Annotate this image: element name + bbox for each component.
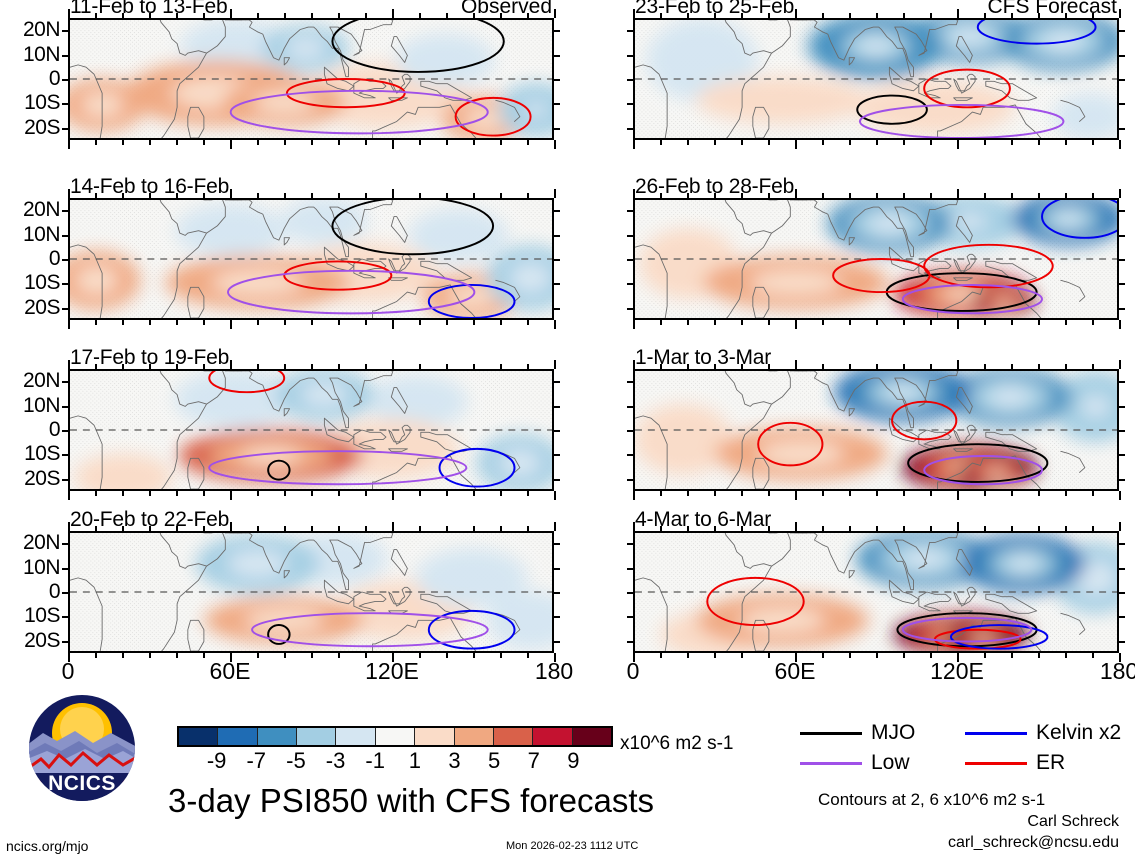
x-tick xyxy=(984,320,986,325)
x-tick xyxy=(822,526,824,531)
x-tick xyxy=(714,491,716,496)
legend-label-mjo: MJO xyxy=(871,721,915,745)
x-tick xyxy=(122,320,124,325)
x-tick xyxy=(122,193,124,198)
y-tick xyxy=(554,210,560,212)
x-tick xyxy=(876,653,878,658)
x-tick xyxy=(1011,193,1013,198)
x-tick xyxy=(1011,526,1013,531)
x-tick xyxy=(419,320,421,325)
x-tick xyxy=(903,491,905,496)
x-tick xyxy=(176,491,178,496)
x-tick xyxy=(203,193,205,198)
x-tick xyxy=(311,526,313,531)
x-tick xyxy=(311,491,313,496)
x-tick xyxy=(903,13,905,18)
x-tick xyxy=(1011,140,1013,145)
y-tick xyxy=(627,568,633,570)
x-tick xyxy=(95,491,97,496)
x-tick xyxy=(284,193,286,198)
y-axis-label: 10S xyxy=(0,271,60,295)
x-tick xyxy=(68,360,70,369)
x-tick xyxy=(1065,364,1067,369)
er-line-icon xyxy=(965,762,1027,765)
legend-label-low: Low xyxy=(871,751,910,775)
contour-note: Contours at 2, 6 x10^6 m2 s-1 xyxy=(818,790,1045,810)
x-tick xyxy=(849,653,851,658)
mjo-line-icon xyxy=(800,732,862,735)
x-tick xyxy=(849,364,851,369)
x-tick xyxy=(768,13,770,18)
legend-item-er: ER xyxy=(965,751,1130,775)
x-tick xyxy=(714,193,716,198)
y-tick xyxy=(554,543,560,545)
y-tick xyxy=(62,308,68,310)
y-axis-label: 0 xyxy=(0,67,60,91)
x-tick xyxy=(984,526,986,531)
colorbar-unit-label: x10^6 m2 s-1 xyxy=(620,733,733,755)
y-axis-label: 10S xyxy=(0,604,60,628)
x-tick xyxy=(446,491,448,496)
map-panel-1: 11-Feb to 13-FebObserved xyxy=(68,18,554,140)
x-tick xyxy=(1065,193,1067,198)
y-tick xyxy=(554,235,560,237)
x-tick xyxy=(1092,193,1094,198)
x-tick xyxy=(365,13,367,18)
legend-label-er: ER xyxy=(1036,751,1065,775)
x-tick xyxy=(500,526,502,531)
y-tick xyxy=(554,103,560,105)
y-tick xyxy=(62,543,68,545)
x-tick xyxy=(903,140,905,145)
x-tick xyxy=(122,491,124,496)
x-tick xyxy=(1119,360,1121,369)
x-tick xyxy=(984,140,986,145)
y-tick xyxy=(1119,430,1125,432)
x-tick xyxy=(122,13,124,18)
x-tick xyxy=(284,491,286,496)
y-axis-label: 20N xyxy=(0,531,60,555)
figure-root: 11-Feb to 13-FebObserved 14-Feb to 16-Fe… xyxy=(0,0,1135,860)
y-tick xyxy=(554,30,560,32)
x-tick xyxy=(68,140,70,149)
x-tick xyxy=(741,526,743,531)
author-name: Carl Schreck xyxy=(1027,813,1119,831)
y-tick xyxy=(1119,128,1125,130)
x-tick xyxy=(527,193,529,198)
x-tick xyxy=(1065,491,1067,496)
y-tick xyxy=(1119,259,1125,261)
y-tick xyxy=(627,79,633,81)
map-panel-4: 20-Feb to 22-Feb xyxy=(68,531,554,653)
x-tick xyxy=(687,140,689,145)
x-tick xyxy=(822,193,824,198)
y-tick xyxy=(627,641,633,643)
x-tick xyxy=(95,526,97,531)
kelvin-line-icon xyxy=(965,732,1027,735)
x-tick xyxy=(1092,140,1094,145)
x-tick xyxy=(95,653,97,658)
map-panel-8: 4-Mar to 6-Mar xyxy=(633,531,1119,653)
x-tick xyxy=(1011,364,1013,369)
colorbar-tick-label: 5 xyxy=(488,748,500,774)
y-tick xyxy=(1119,283,1125,285)
x-tick xyxy=(930,320,932,325)
colorbar-swatch-2 xyxy=(218,728,257,745)
y-tick xyxy=(1119,235,1125,237)
x-tick xyxy=(1092,320,1094,325)
x-tick xyxy=(633,320,635,329)
x-tick xyxy=(176,526,178,531)
x-tick xyxy=(1119,491,1121,500)
x-tick xyxy=(338,13,340,18)
map-panel-6: 26-Feb to 28-Feb xyxy=(633,198,1119,320)
x-tick xyxy=(687,653,689,658)
x-tick xyxy=(930,140,932,145)
x-tick xyxy=(957,360,959,369)
x-tick xyxy=(1038,491,1040,496)
x-tick xyxy=(822,320,824,325)
x-tick xyxy=(1038,364,1040,369)
x-tick xyxy=(714,364,716,369)
y-tick xyxy=(627,308,633,310)
x-tick xyxy=(660,653,662,658)
x-tick xyxy=(903,193,905,198)
x-tick xyxy=(311,13,313,18)
x-tick xyxy=(446,320,448,325)
x-tick xyxy=(822,364,824,369)
x-tick xyxy=(768,653,770,658)
colorbar-tick-label: -7 xyxy=(246,748,266,774)
x-axis-label: 60E xyxy=(775,658,816,685)
map-canvas-1 xyxy=(68,18,554,140)
x-tick xyxy=(500,364,502,369)
x-tick xyxy=(257,364,259,369)
map-canvas-3 xyxy=(68,369,554,491)
x-tick xyxy=(284,653,286,658)
map-panel-5: 23-Feb to 25-FebCFS Forecast xyxy=(633,18,1119,140)
x-tick xyxy=(203,13,205,18)
x-tick xyxy=(257,491,259,496)
x-tick xyxy=(527,653,529,658)
x-tick xyxy=(122,526,124,531)
x-tick xyxy=(930,13,932,18)
y-tick xyxy=(554,406,560,408)
colorbar-tick-label: 1 xyxy=(409,748,421,774)
x-tick xyxy=(230,522,232,531)
x-tick xyxy=(149,13,151,18)
y-tick xyxy=(1119,616,1125,618)
x-tick xyxy=(338,140,340,145)
x-tick xyxy=(338,653,340,658)
y-tick xyxy=(554,479,560,481)
x-tick xyxy=(203,364,205,369)
x-tick xyxy=(1011,653,1013,658)
y-tick xyxy=(62,30,68,32)
x-tick xyxy=(95,193,97,198)
x-tick xyxy=(419,140,421,145)
x-tick xyxy=(822,140,824,145)
x-tick xyxy=(230,491,232,500)
x-tick xyxy=(554,522,556,531)
x-tick xyxy=(527,320,529,325)
x-tick xyxy=(257,140,259,145)
x-tick xyxy=(554,9,556,18)
x-tick xyxy=(1092,653,1094,658)
colorbar-swatch-9 xyxy=(494,728,533,745)
x-tick xyxy=(392,189,394,198)
x-tick xyxy=(500,13,502,18)
x-tick xyxy=(149,653,151,658)
x-tick xyxy=(903,526,905,531)
x-tick xyxy=(392,360,394,369)
x-tick xyxy=(392,9,394,18)
x-tick xyxy=(984,653,986,658)
x-tick xyxy=(849,526,851,531)
x-tick xyxy=(68,9,70,18)
x-tick xyxy=(527,13,529,18)
y-tick xyxy=(627,454,633,456)
x-tick xyxy=(795,189,797,198)
y-tick xyxy=(554,259,560,261)
x-tick xyxy=(849,193,851,198)
x-tick xyxy=(1065,653,1067,658)
x-tick xyxy=(473,320,475,325)
y-tick xyxy=(1119,454,1125,456)
x-tick xyxy=(446,653,448,658)
x-tick xyxy=(660,364,662,369)
y-tick xyxy=(1119,479,1125,481)
x-tick xyxy=(149,320,151,325)
x-tick xyxy=(633,522,635,531)
x-tick xyxy=(768,193,770,198)
x-tick xyxy=(1119,9,1121,18)
x-tick xyxy=(311,320,313,325)
x-tick xyxy=(714,653,716,658)
y-tick xyxy=(627,479,633,481)
x-tick xyxy=(230,9,232,18)
y-tick xyxy=(62,641,68,643)
y-tick xyxy=(627,55,633,57)
site-url[interactable]: ncics.org/mjo xyxy=(6,838,88,854)
colorbar-tick-label: 3 xyxy=(448,748,460,774)
y-tick xyxy=(62,616,68,618)
x-tick xyxy=(687,491,689,496)
y-tick xyxy=(62,568,68,570)
legend-item-low: Low xyxy=(800,751,965,775)
colorbar-swatch-10 xyxy=(533,728,572,745)
x-tick xyxy=(446,140,448,145)
x-tick xyxy=(687,320,689,325)
x-tick xyxy=(795,360,797,369)
x-tick xyxy=(1038,193,1040,198)
x-tick xyxy=(392,491,394,500)
y-axis-label: 10N xyxy=(0,43,60,67)
x-tick xyxy=(876,364,878,369)
x-tick xyxy=(741,653,743,658)
y-tick xyxy=(62,103,68,105)
x-tick xyxy=(68,320,70,329)
x-tick xyxy=(284,526,286,531)
x-tick xyxy=(176,320,178,325)
colorbar-tick-label: -3 xyxy=(326,748,346,774)
x-tick xyxy=(554,360,556,369)
x-tick xyxy=(500,320,502,325)
y-tick xyxy=(554,79,560,81)
y-tick xyxy=(62,79,68,81)
x-axis-label: 180 xyxy=(1100,658,1135,685)
x-tick xyxy=(554,189,556,198)
x-tick xyxy=(876,526,878,531)
x-tick xyxy=(419,193,421,198)
y-tick xyxy=(62,406,68,408)
y-tick xyxy=(1119,308,1125,310)
y-tick xyxy=(627,283,633,285)
y-tick xyxy=(627,103,633,105)
y-tick xyxy=(554,128,560,130)
colorbar-swatch-6 xyxy=(376,728,415,745)
x-tick xyxy=(473,193,475,198)
x-tick xyxy=(633,189,635,198)
panel-title-7: 1-Mar to 3-Mar xyxy=(635,346,771,370)
map-canvas-2 xyxy=(68,198,554,320)
x-tick xyxy=(176,653,178,658)
x-tick xyxy=(446,193,448,198)
x-tick xyxy=(795,491,797,500)
y-tick xyxy=(62,55,68,57)
legend-label-kelvin: Kelvin x2 xyxy=(1036,721,1121,745)
x-tick xyxy=(554,140,556,149)
x-tick xyxy=(365,526,367,531)
x-tick xyxy=(903,320,905,325)
x-tick xyxy=(1119,522,1121,531)
colorbar-swatch-8 xyxy=(455,728,494,745)
y-tick xyxy=(627,592,633,594)
y-tick xyxy=(1119,30,1125,32)
y-tick xyxy=(1119,543,1125,545)
x-tick xyxy=(1092,491,1094,496)
colorbar-tick-label: 9 xyxy=(567,748,579,774)
y-axis-label: 20N xyxy=(0,369,60,393)
x-tick xyxy=(903,364,905,369)
x-tick xyxy=(149,526,151,531)
map-canvas-4 xyxy=(68,531,554,653)
x-tick xyxy=(741,320,743,325)
y-tick xyxy=(62,479,68,481)
x-tick xyxy=(1092,13,1094,18)
ncics-logo: NCICS xyxy=(27,693,137,803)
x-tick xyxy=(930,526,932,531)
x-tick xyxy=(1065,13,1067,18)
x-tick xyxy=(311,193,313,198)
x-tick xyxy=(554,320,556,329)
legend-row: MJO Kelvin x2 xyxy=(800,718,1130,748)
x-tick xyxy=(338,491,340,496)
x-tick xyxy=(95,320,97,325)
colorbar-swatch-3 xyxy=(258,728,297,745)
y-tick xyxy=(62,128,68,130)
x-tick xyxy=(257,13,259,18)
colorbar-swatch-7 xyxy=(415,728,454,745)
x-tick xyxy=(311,653,313,658)
colorbar-tick-label: -9 xyxy=(207,748,227,774)
y-tick xyxy=(554,308,560,310)
x-tick xyxy=(311,364,313,369)
legend-item-kelvin: Kelvin x2 xyxy=(965,721,1130,745)
x-tick xyxy=(957,491,959,500)
x-tick xyxy=(527,140,529,145)
x-tick xyxy=(660,320,662,325)
x-axis-label: 120E xyxy=(930,658,984,685)
y-tick xyxy=(1119,592,1125,594)
x-tick xyxy=(903,653,905,658)
low-line-icon xyxy=(800,762,862,765)
x-tick xyxy=(392,140,394,149)
y-axis-label: 0 xyxy=(0,247,60,271)
map-canvas-8 xyxy=(633,531,1119,653)
x-tick xyxy=(554,491,556,500)
y-tick xyxy=(554,381,560,383)
x-tick xyxy=(527,364,529,369)
x-tick xyxy=(876,491,878,496)
x-tick xyxy=(230,140,232,149)
y-tick xyxy=(554,454,560,456)
y-tick xyxy=(554,283,560,285)
x-tick xyxy=(660,193,662,198)
x-tick xyxy=(95,364,97,369)
colorbar-tick-label: -1 xyxy=(365,748,385,774)
y-tick xyxy=(554,55,560,57)
x-tick xyxy=(660,526,662,531)
x-axis-label: 60E xyxy=(210,658,251,685)
x-tick xyxy=(1038,13,1040,18)
x-tick xyxy=(768,364,770,369)
x-tick xyxy=(741,364,743,369)
panel-corner-label-5: CFS Forecast xyxy=(987,0,1117,19)
x-tick xyxy=(473,140,475,145)
x-tick xyxy=(1011,491,1013,496)
x-tick xyxy=(984,491,986,496)
y-axis-label: 10N xyxy=(0,556,60,580)
x-tick xyxy=(176,364,178,369)
y-tick xyxy=(1119,103,1125,105)
x-tick xyxy=(1038,140,1040,145)
y-axis-label: 10S xyxy=(0,91,60,115)
colorbar-swatch-1 xyxy=(179,728,218,745)
x-tick xyxy=(984,193,986,198)
x-tick xyxy=(284,364,286,369)
x-tick xyxy=(1011,320,1013,325)
y-tick xyxy=(627,616,633,618)
x-tick xyxy=(230,320,232,329)
colorbar-tick-label: 7 xyxy=(528,748,540,774)
x-tick xyxy=(149,193,151,198)
x-tick xyxy=(338,364,340,369)
x-tick xyxy=(633,140,635,149)
x-tick xyxy=(338,193,340,198)
x-tick xyxy=(473,653,475,658)
x-tick xyxy=(365,364,367,369)
x-tick xyxy=(68,189,70,198)
x-tick xyxy=(795,9,797,18)
x-axis-label: 0 xyxy=(62,658,75,685)
x-tick xyxy=(930,491,932,496)
y-axis-label: 0 xyxy=(0,418,60,442)
x-tick xyxy=(500,140,502,145)
x-tick xyxy=(1038,320,1040,325)
x-tick xyxy=(527,491,529,496)
x-tick xyxy=(68,491,70,500)
